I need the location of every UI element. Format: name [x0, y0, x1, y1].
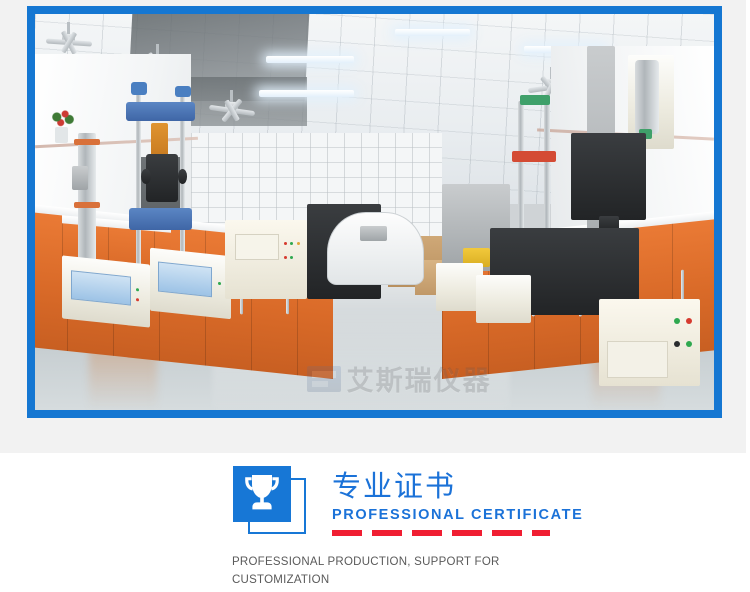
indicator-led-amber — [297, 242, 300, 245]
watermark-text: 艾斯瑞仪器 — [347, 359, 492, 398]
divider-dash — [372, 530, 402, 536]
machine-crosshead-lower — [129, 208, 193, 230]
cylindrical-tank — [327, 212, 424, 285]
ceiling-light-4 — [395, 29, 470, 36]
tester-grip-red — [512, 151, 557, 162]
tester-trim-mid — [74, 202, 100, 208]
certificate-heading-row: 专业证书 PROFESSIONAL CERTIFICATE — [232, 466, 583, 538]
bench-instrument-cream — [225, 220, 306, 299]
status-led-green — [219, 281, 222, 284]
photo-frame: 艾斯瑞仪器 — [27, 6, 722, 418]
button-led-red — [686, 318, 692, 324]
button-led-black — [674, 341, 680, 347]
divider-dash — [452, 530, 482, 536]
status-led-red — [136, 298, 139, 301]
divider-dash — [492, 530, 522, 536]
photo-watermark: 艾斯瑞仪器 — [307, 359, 492, 398]
grip-knob — [141, 169, 151, 184]
certificate-section: 专业证书 PROFESSIONAL CERTIFICATE PROFESSION… — [0, 460, 750, 592]
status-led-green — [136, 288, 139, 291]
console-display — [159, 261, 213, 297]
laboratory-interior-photo: 艾斯瑞仪器 — [35, 14, 714, 410]
console-display — [71, 270, 131, 305]
indicator-led-red-2 — [284, 256, 287, 259]
control-console-left-2 — [150, 247, 231, 319]
divider-dash — [412, 530, 442, 536]
machine-load-cell — [635, 60, 659, 134]
tester-grip — [72, 166, 88, 190]
machine-cap-left — [131, 82, 147, 95]
button-led-green — [674, 318, 680, 324]
certificate-title-cn: 专业证书 — [332, 470, 583, 503]
machine-crosshead-top — [126, 102, 194, 122]
tester-top-cap — [520, 95, 550, 105]
certificate-filled-square — [233, 466, 291, 522]
divider-dash — [332, 530, 362, 536]
grip-knob — [178, 169, 188, 184]
divider-dash — [532, 530, 550, 536]
specimen-heater — [151, 123, 168, 156]
certificate-note: PROFESSIONAL PRODUCTION, SUPPORT FOR CUS… — [232, 554, 552, 590]
indicator-led-green — [290, 242, 293, 245]
indicator-led-green-2 — [290, 256, 293, 259]
company-logo-icon — [307, 366, 341, 392]
control-console-left — [62, 255, 150, 328]
bench-instrument-right-2 — [476, 275, 530, 323]
machine-cap-right — [175, 86, 191, 97]
divider-dashes — [332, 530, 583, 536]
trophy-glyph — [241, 472, 283, 516]
control-panel-right — [599, 299, 701, 386]
tester-trim-top — [74, 139, 100, 145]
indicator-led-red — [284, 242, 287, 245]
certificate-title-en: PROFESSIONAL CERTIFICATE — [332, 507, 583, 523]
trophy-certificate-icon — [232, 466, 310, 538]
computer-monitor — [571, 133, 646, 220]
ceiling-light-2 — [266, 56, 354, 63]
ceiling-light-3 — [259, 90, 354, 97]
tank-control-panel — [360, 226, 387, 242]
certificate-text-block: 专业证书 PROFESSIONAL CERTIFICATE — [332, 466, 583, 536]
button-led-green-2 — [686, 341, 692, 347]
